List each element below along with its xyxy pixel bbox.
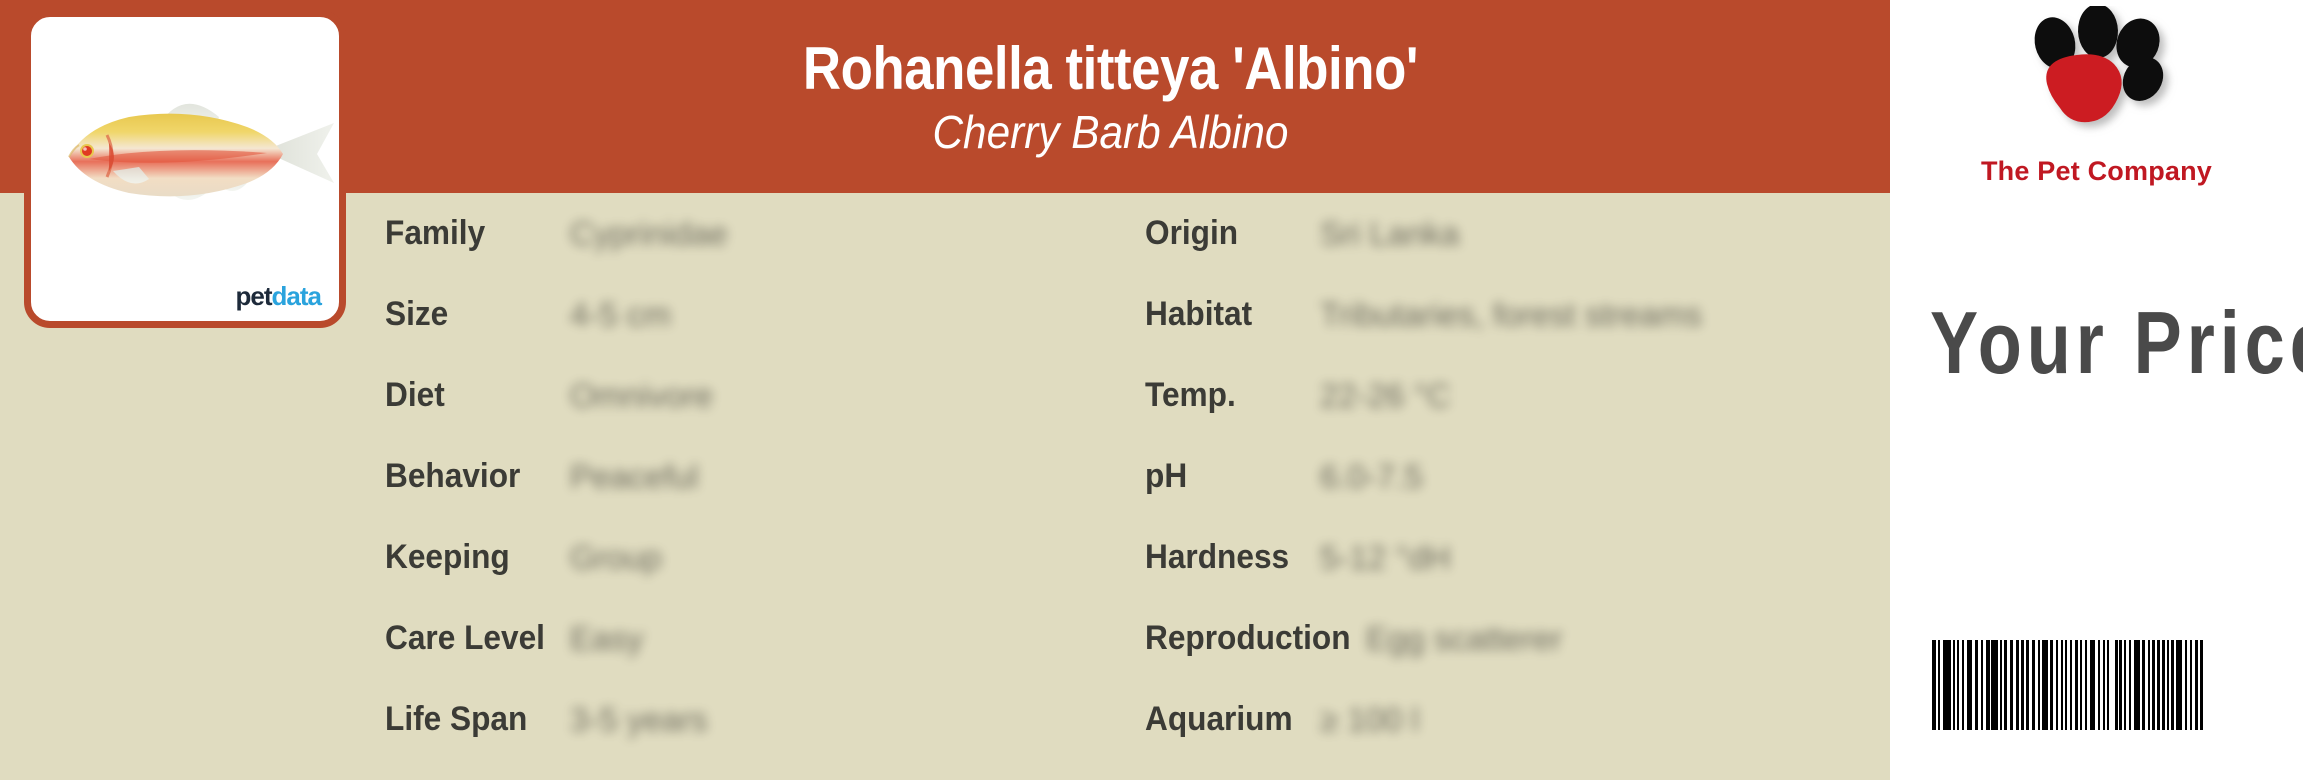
spec-label: Behavior	[385, 457, 557, 496]
spec-row: ReproductionEgg scatterer	[1145, 598, 1890, 679]
brand-name: The Pet Company	[1890, 156, 2303, 187]
spec-label: pH	[1145, 457, 1308, 496]
spec-row: HabitatTributaries, forest streams	[1145, 274, 1890, 355]
spec-value: 3-5 years	[570, 701, 708, 739]
spec-value: Sri Lanka	[1320, 215, 1459, 253]
scientific-name: Rohanella titteya 'Albino'	[802, 39, 1417, 99]
brand-logo: The Pet Company	[1890, 6, 2303, 206]
barcode-bar	[1943, 640, 1950, 730]
spec-table: FamilyCyprinidaeSize4-5 cmDietOmnivoreBe…	[330, 193, 1890, 780]
spec-label: Diet	[385, 376, 557, 415]
paw-print-icon	[1890, 6, 2303, 156]
spec-row: Care LevelEasy	[385, 598, 1125, 679]
spec-value: Tributaries, forest streams	[1320, 296, 1702, 334]
spec-label: Habitat	[1145, 295, 1308, 334]
spec-value: 6.0-7.5	[1320, 458, 1423, 496]
spec-value: 22-26 °C	[1320, 377, 1451, 415]
price-panel: The Pet Company Your Price	[1890, 0, 2303, 780]
spec-row: Aquarium≥ 100 l	[1145, 679, 1890, 760]
species-price-label: Rohanella titteya 'Albino' Cherry Barb A…	[0, 0, 2303, 780]
barcode-space	[2203, 640, 2205, 730]
spec-label: Reproduction	[1145, 619, 1351, 658]
spec-value: Group	[570, 539, 662, 577]
spec-label: Life Span	[385, 700, 557, 739]
spec-value: Egg scatterer	[1366, 620, 1562, 658]
spec-label: Aquarium	[1145, 700, 1308, 739]
spec-column-right: OriginSri LankaHabitatTributaries, fores…	[1145, 193, 1890, 780]
spec-label: Keeping	[385, 538, 557, 577]
spec-row: DietOmnivore	[385, 355, 1125, 436]
spec-label: Care Level	[385, 619, 557, 658]
spec-label: Hardness	[1145, 538, 1308, 577]
petdata-watermark: petdata	[236, 283, 321, 309]
spec-row: BehaviorPeaceful	[385, 436, 1125, 517]
spec-column-left: FamilyCyprinidaeSize4-5 cmDietOmnivoreBe…	[385, 193, 1125, 780]
spec-label: Family	[385, 214, 557, 253]
spec-value: 4-5 cm	[570, 296, 671, 334]
spec-label: Origin	[1145, 214, 1308, 253]
spec-row: Temp.22-26 °C	[1145, 355, 1890, 436]
spec-value: 5-12 °dH	[1320, 539, 1451, 577]
fish-image	[51, 79, 341, 229]
spec-value: Cyprinidae	[570, 215, 728, 253]
petdata-label-data: data	[272, 281, 321, 311]
spec-value: Peaceful	[570, 458, 698, 496]
species-image-card: petdata	[24, 10, 346, 328]
spec-value: Easy	[570, 620, 643, 658]
spec-row: Hardness5-12 °dH	[1145, 517, 1890, 598]
spec-row: OriginSri Lanka	[1145, 193, 1890, 274]
spec-row: FamilyCyprinidae	[385, 193, 1125, 274]
common-name: Cherry Barb Albino	[932, 109, 1288, 155]
barcode	[1932, 640, 2262, 730]
spec-label: Size	[385, 295, 557, 334]
petdata-label-pet: pet	[236, 281, 272, 311]
spec-label: Temp.	[1145, 376, 1308, 415]
spec-value: ≥ 100 l	[1320, 701, 1419, 739]
spec-row: Size4-5 cm	[385, 274, 1125, 355]
spec-row: KeepingGroup	[385, 517, 1125, 598]
header-text-block: Rohanella titteya 'Albino' Cherry Barb A…	[330, 0, 1890, 193]
spec-value: Omnivore	[570, 377, 713, 415]
price-label: Your Price	[1930, 292, 2303, 394]
spec-row: pH6.0-7.5	[1145, 436, 1890, 517]
spec-row: Life Span3-5 years	[385, 679, 1125, 760]
